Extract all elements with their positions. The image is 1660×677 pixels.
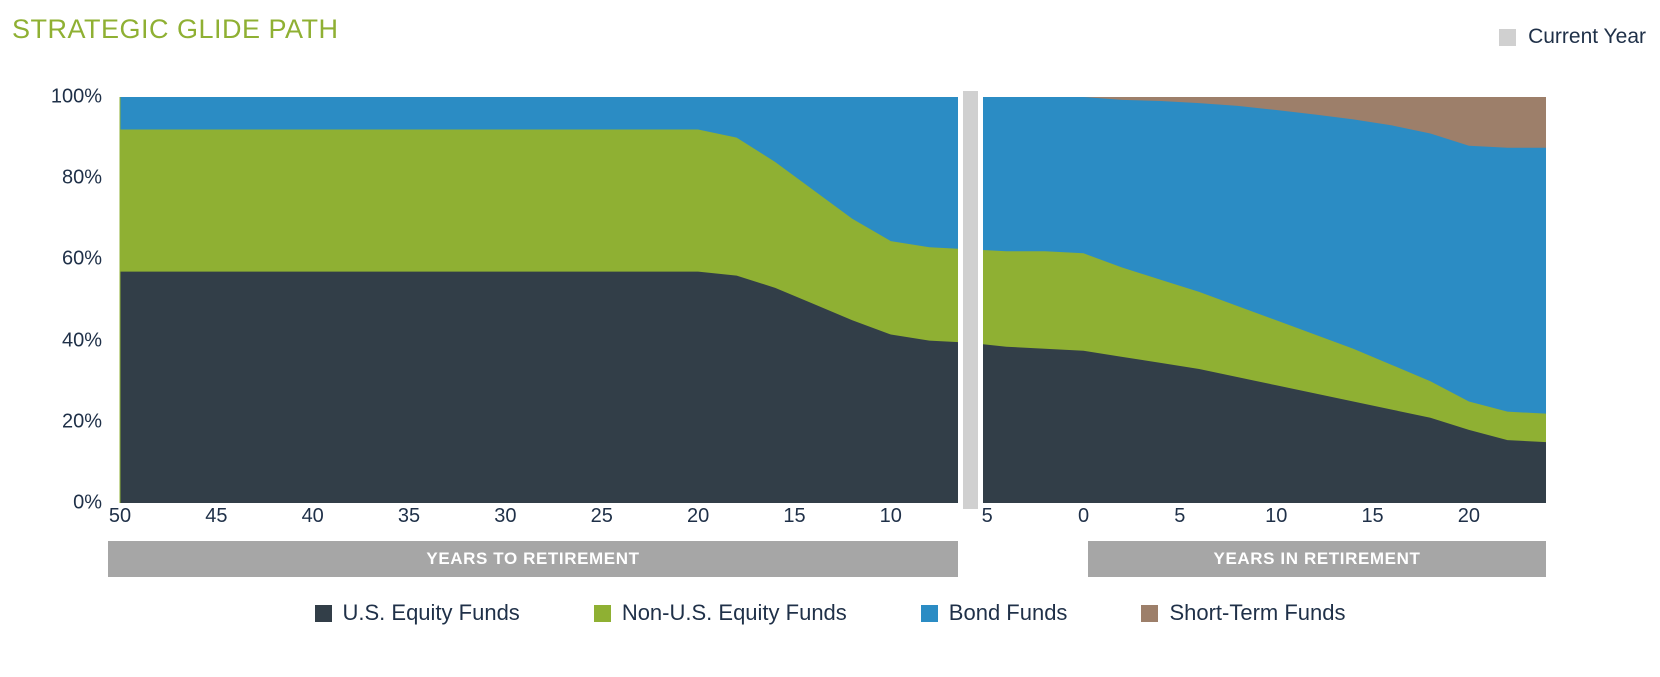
x-axis-tick: 40 [302,505,324,528]
current-year-marker [963,91,978,509]
x-axis-tick: 5 [982,505,993,528]
y-axis-tick: 40% [62,329,102,352]
phase-bar-years-to-retirement: YEARS TO RETIREMENT [108,541,958,577]
x-axis-tick: 10 [1265,505,1287,528]
phase-bar-years-in-retirement: YEARS IN RETIREMENT [1088,541,1546,577]
legend-item-label: U.S. Equity Funds [343,600,520,626]
legend-swatch-icon [594,605,611,622]
legend-swatch-icon [921,605,938,622]
x-axis-tick: 45 [205,505,227,528]
legend-swatch-icon [315,605,332,622]
y-axis-tick: 60% [62,248,102,271]
series-legend: U.S. Equity FundsNon-U.S. Equity FundsBo… [0,588,1660,638]
x-axis-tick: 15 [783,505,805,528]
x-axis-tick: 25 [591,505,613,528]
x-axis-tick: 15 [1361,505,1383,528]
legend-item-label: Short-Term Funds [1169,600,1345,626]
stacked-area-chart [0,0,1660,530]
legend-swatch-icon [1141,605,1158,622]
x-axis-tick: 35 [398,505,420,528]
legend-item-label: Non-U.S. Equity Funds [622,600,847,626]
glide-path-chart-page: STRATEGIC GLIDE PATH Current Year 100%80… [0,0,1660,677]
legend-item[interactable]: Non-U.S. Equity Funds [594,600,847,626]
x-axis-tick: 30 [494,505,516,528]
legend-item[interactable]: U.S. Equity Funds [315,600,520,626]
y-axis-labels: 100%80%60%40%20%0% [0,0,112,530]
x-axis-labels: 504540353025201510505101520 [0,505,1660,539]
legend-item[interactable]: Short-Term Funds [1141,600,1345,626]
legend-item[interactable]: Bond Funds [921,600,1068,626]
y-axis-tick: 20% [62,410,102,433]
x-axis-tick: 20 [687,505,709,528]
legend-item-label: Bond Funds [949,600,1068,626]
plot-area: 100%80%60%40%20%0% 504540353025201510505… [0,0,1660,530]
phase-bars: YEARS TO RETIREMENT YEARS IN RETIREMENT [0,541,1660,577]
x-axis-tick: 20 [1458,505,1480,528]
y-axis-tick: 80% [62,167,102,190]
y-axis-tick: 100% [51,86,102,109]
x-axis-tick: 0 [1078,505,1089,528]
x-axis-tick: 10 [880,505,902,528]
x-axis-tick: 50 [109,505,131,528]
x-axis-tick: 5 [1174,505,1185,528]
